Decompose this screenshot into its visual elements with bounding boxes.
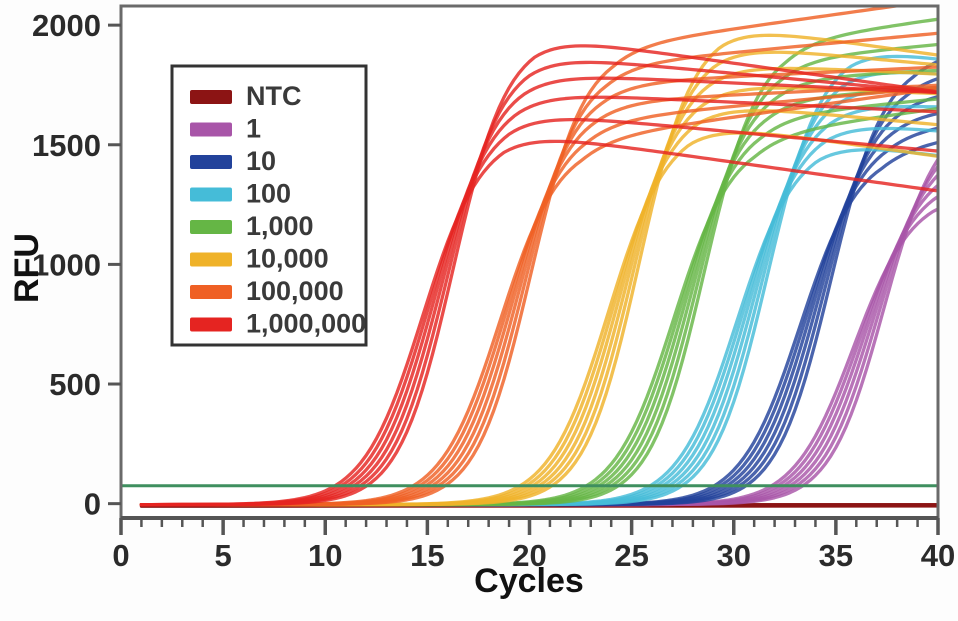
legend-label: 100,000 xyxy=(246,276,344,306)
legend-label: 10 xyxy=(246,146,276,176)
legend-swatch xyxy=(190,253,232,267)
legend-swatch xyxy=(190,285,232,299)
x-tick-label: 30 xyxy=(717,538,751,573)
legend-label: 10,000 xyxy=(246,244,329,274)
x-axis-title: Cycles xyxy=(474,562,584,600)
chart-canvas: 0500100015002000 0510152025303540 RFU Cy… xyxy=(0,0,958,621)
y-tick-label: 500 xyxy=(49,367,101,402)
legend-swatch xyxy=(190,220,232,234)
y-tick-label: 1500 xyxy=(32,128,101,163)
y-axis-title: RFU xyxy=(8,233,46,303)
legend-label: 1,000,000 xyxy=(246,309,366,339)
legend-swatch xyxy=(190,90,232,104)
y-tick-label: 2000 xyxy=(32,8,101,43)
chart-legend: NTC1101001,00010,000100,0001,000,000 xyxy=(172,66,366,345)
legend-swatch xyxy=(190,155,232,169)
x-tick-label: 5 xyxy=(215,538,232,573)
x-tick-label: 40 xyxy=(921,538,955,573)
legend-label: 1,000 xyxy=(246,211,314,241)
x-tick-label: 25 xyxy=(614,538,648,573)
legend-label: NTC xyxy=(246,81,302,111)
y-tick-label: 0 xyxy=(84,487,101,522)
legend-label: 1 xyxy=(246,114,261,144)
legend-swatch xyxy=(190,188,232,202)
legend-swatch xyxy=(190,318,232,332)
legend-swatch xyxy=(190,123,232,137)
x-tick-label: 15 xyxy=(410,538,444,573)
x-tick-label: 10 xyxy=(308,538,342,573)
qpcr-amplification-chart: 0500100015002000 0510152025303540 RFU Cy… xyxy=(0,0,958,621)
x-tick-label: 35 xyxy=(819,538,853,573)
x-tick-label: 0 xyxy=(112,538,129,573)
legend-label: 100 xyxy=(246,179,291,209)
